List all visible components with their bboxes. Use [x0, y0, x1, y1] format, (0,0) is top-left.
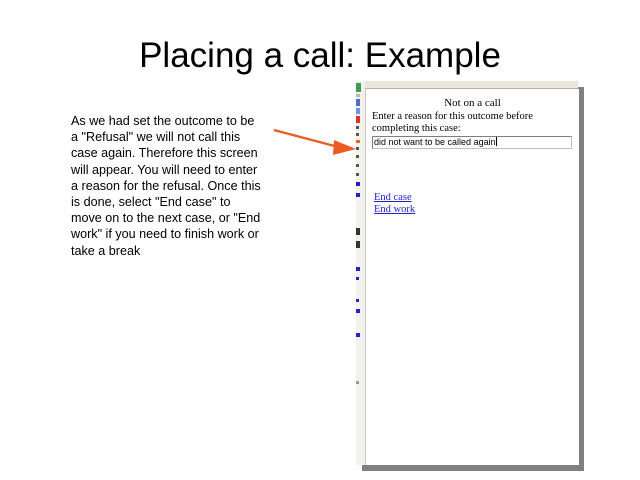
clipped-content-fragment [356, 267, 360, 271]
clipped-content-fragment [356, 126, 359, 129]
reason-input[interactable]: did not want to be called again [372, 136, 572, 149]
clipped-content-fragment [356, 299, 359, 302]
clipped-content-fragment [356, 147, 359, 150]
clipped-content-fragment [356, 108, 360, 114]
form-document-pane: Not on a call Enter a reason for this ou… [365, 89, 579, 465]
page-title: Placing a call: Example [0, 36, 640, 76]
slide-body-text: As we had set the outcome to be a "Refus… [71, 113, 261, 259]
clipped-content-fragment [356, 99, 360, 106]
clipped-content-fragment [356, 140, 360, 143]
reason-input-value: did not want to be called again [374, 137, 496, 147]
clipped-content-fragment [356, 381, 359, 384]
clipped-content-fragment [356, 228, 360, 235]
browser-top-bar [365, 81, 578, 89]
clipped-content-fragment [356, 116, 360, 123]
arrow-shaft [274, 130, 342, 148]
text-cursor [496, 137, 497, 146]
arrow-head [333, 140, 356, 155]
clipped-content-fragment [356, 309, 360, 313]
form-heading: Not on a call [366, 97, 579, 109]
clipped-content-strip [356, 81, 365, 465]
clipped-content-fragment [356, 277, 359, 280]
form-actions: End case End work [374, 192, 415, 216]
callout-arrow-icon [272, 120, 362, 160]
clipped-content-fragment [356, 83, 361, 92]
form-instruction-text: Enter a reason for this outcome before c… [372, 111, 576, 134]
embedded-app-screenshot: Not on a call Enter a reason for this ou… [356, 81, 578, 465]
clipped-content-fragment [356, 173, 359, 176]
end-case-link[interactable]: End case [374, 192, 415, 204]
clipped-content-fragment [356, 182, 360, 186]
clipped-content-fragment [356, 193, 360, 197]
clipped-content-fragment [356, 94, 360, 97]
clipped-content-fragment [356, 133, 359, 136]
clipped-content-fragment [356, 164, 359, 167]
clipped-content-fragment [356, 241, 360, 248]
clipped-content-fragment [356, 155, 359, 158]
end-work-link[interactable]: End work [374, 204, 415, 216]
clipped-content-fragment [356, 333, 360, 337]
